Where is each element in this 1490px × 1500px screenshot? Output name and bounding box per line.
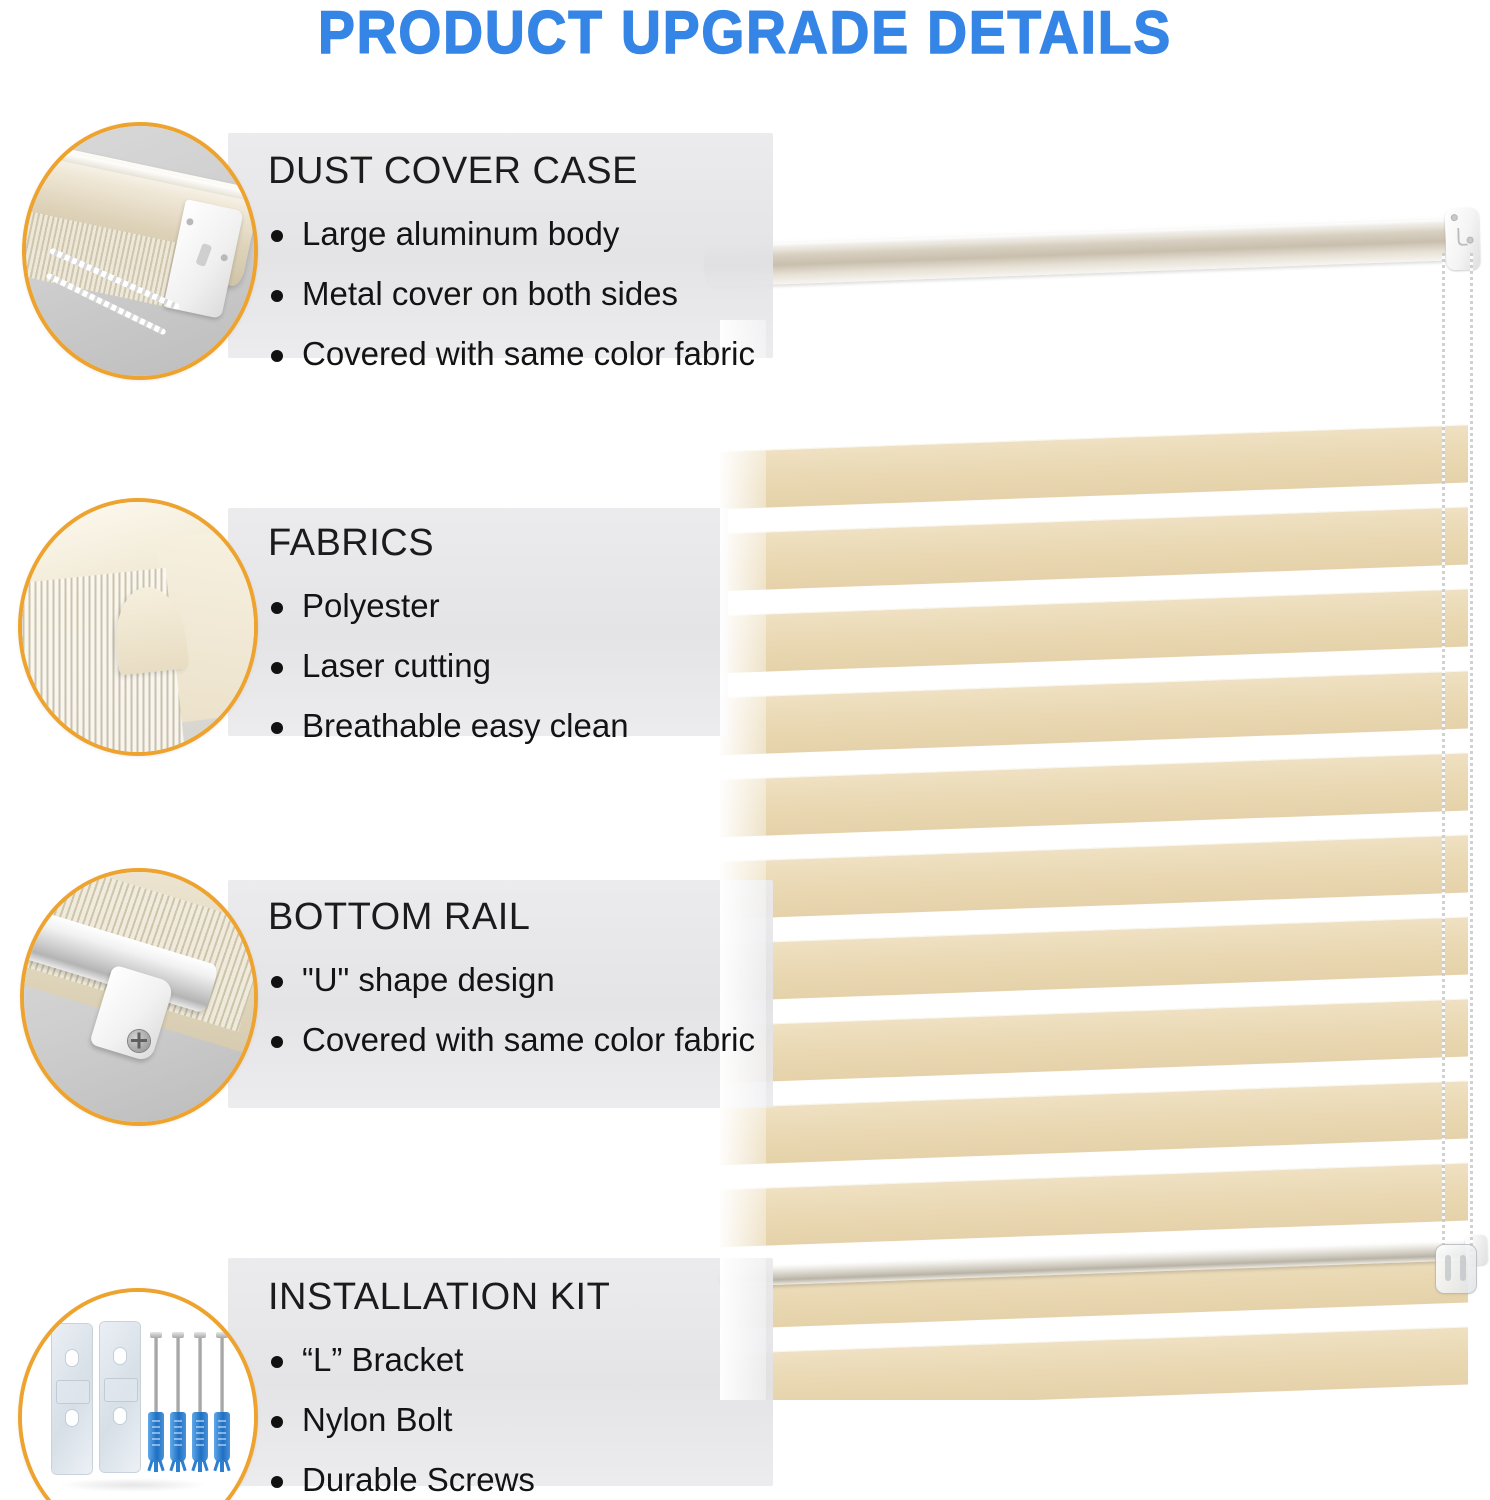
bullet-item: Nylon Bolt: [268, 1401, 610, 1439]
bullet-item: Polyester: [268, 587, 629, 625]
feature-heading-4: INSTALLATION KIT: [268, 1276, 610, 1319]
bullet-item: Laser cutting: [268, 647, 629, 685]
bead-chain-right: [1470, 253, 1473, 1258]
page-title: PRODUCT UPGRADE DETAILS: [60, 0, 1431, 70]
bullet-item: Large aluminum body: [268, 215, 755, 253]
screw-3: [194, 1332, 206, 1416]
bullet-item: Covered with same color fabric: [268, 335, 755, 373]
wall-anchor-3: [192, 1412, 208, 1472]
screw-2: [172, 1332, 184, 1416]
infographic-canvas: PRODUCT UPGRADE DETAILS: [0, 0, 1490, 1500]
wall-anchor-1: [148, 1412, 164, 1472]
bullet-item: Metal cover on both sides: [268, 275, 755, 313]
zebra-roller-blind-photo: [700, 215, 1490, 1325]
feature-bullets-1: Large aluminum body Metal cover on both …: [268, 215, 755, 373]
dust-cover-case-photo: [22, 122, 258, 380]
l-bracket-1: [52, 1324, 92, 1474]
bullet-item: "U" shape design: [268, 961, 755, 999]
feature-heading-1: DUST COVER CASE: [268, 150, 755, 193]
installation-kit-photo: [18, 1288, 258, 1500]
bottom-rail-photo: [20, 868, 258, 1126]
feature-bullets-2: Polyester Laser cutting Breathable easy …: [268, 587, 629, 745]
bullet-item: Breathable easy clean: [268, 707, 629, 745]
bullet-item: Covered with same color fabric: [268, 1021, 755, 1059]
feature-heading-3: BOTTOM RAIL: [268, 896, 755, 939]
feature-bullets-4: “L” Bracket Nylon Bolt Durable Screws: [268, 1341, 610, 1499]
bullet-item: Durable Screws: [268, 1461, 610, 1499]
fabrics-photo: [18, 498, 258, 756]
blind-fabric-area: [720, 320, 1468, 1400]
headrail-end-cap: [1444, 207, 1480, 270]
bullet-item: “L” Bracket: [268, 1341, 610, 1379]
feature-bullets-3: "U" shape design Covered with same color…: [268, 961, 755, 1059]
feature-heading-2: FABRICS: [268, 522, 629, 565]
l-bracket-2: [100, 1322, 140, 1472]
headrail-valance: [703, 216, 1464, 287]
wall-anchor-4: [214, 1412, 230, 1472]
screw-1: [150, 1332, 162, 1416]
bead-chain-left: [1442, 253, 1445, 1253]
screw-4: [216, 1332, 228, 1416]
chain-tensioner: [1436, 1245, 1476, 1293]
wall-anchor-2: [170, 1412, 186, 1472]
